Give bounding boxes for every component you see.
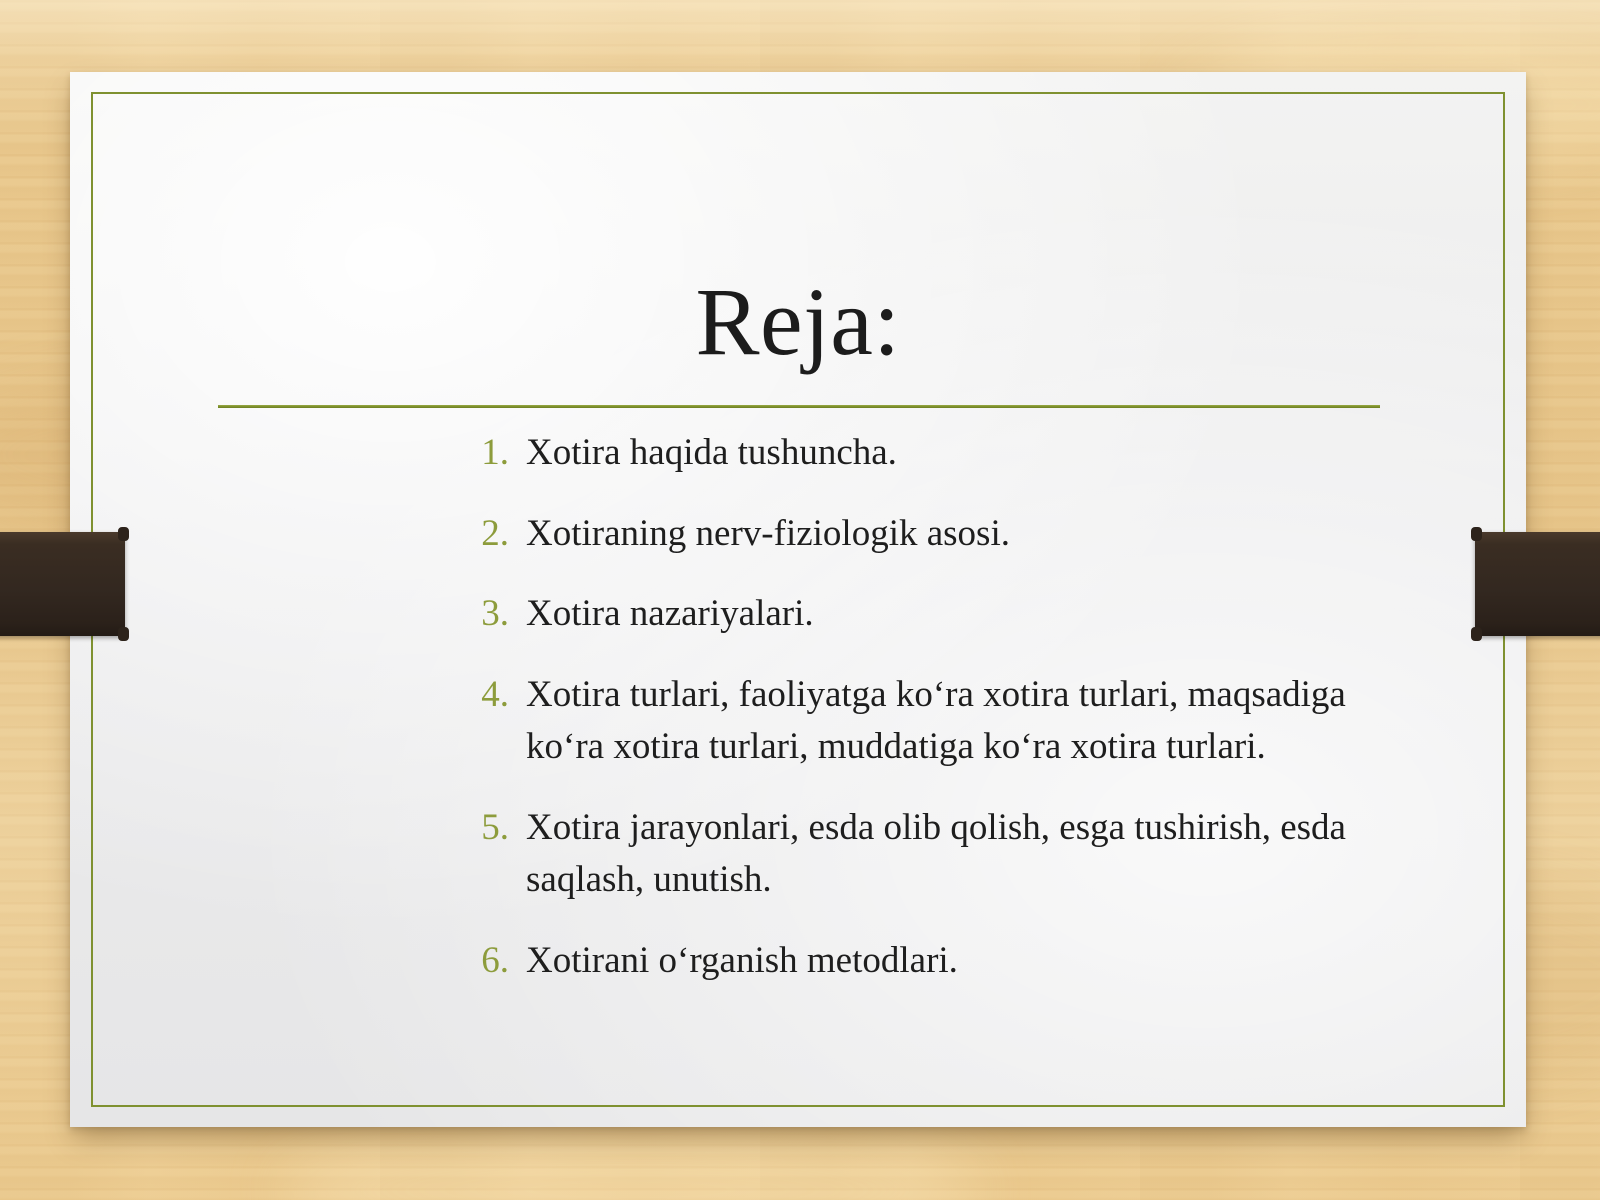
page-title: Reja: [70,272,1526,373]
list-item-number: 2. [470,508,526,561]
title-block: Reja: [70,272,1526,373]
list-item: 2. Xotiraning nerv-fiziologik asosi. [470,508,1380,561]
list-item: 3. Xotira nazariyalari. [470,588,1380,641]
list-item-text: Xotiraning nerv-fiziologik asosi. [526,508,1380,561]
list-item: 4. Xotira turlari, faoliyatga koʻra xoti… [470,669,1380,774]
list-item-text: Xotirani oʻrganish metodlari. [526,935,1380,988]
list-item: 5. Xotira jarayonlari, esda olib qolish,… [470,802,1380,907]
clip-nub-icon [1471,627,1482,641]
binder-clip-left [0,532,125,636]
slide-paper-card: Reja: 1. Xotira haqida tushuncha. 2. Xot… [70,72,1526,1127]
list-item-number: 5. [470,802,526,855]
list-item-text: Xotira jarayonlari, esda olib qolish, es… [526,802,1380,907]
list-item: 1. Xotira haqida tushuncha. [470,427,1380,480]
clip-nub-icon [1471,527,1482,541]
list-item-text: Xotira turlari, faoliyatga koʻra xotira … [526,669,1380,774]
list-item-number: 6. [470,935,526,988]
list-item: 6. Xotirani oʻrganish metodlari. [470,935,1380,988]
list-item-number: 1. [470,427,526,480]
list-item-text: Xotira nazariyalari. [526,588,1380,641]
title-divider-rule [218,405,1380,408]
list-item-text: Xotira haqida tushuncha. [526,427,1380,480]
list-item-number: 4. [470,669,526,722]
list-item-number: 3. [470,588,526,641]
plan-list: 1. Xotira haqida tushuncha. 2. Xotiranin… [470,427,1380,987]
wood-grain-blob [280,1130,980,1200]
clip-nub-icon [118,627,129,641]
binder-clip-right [1475,532,1600,636]
clip-nub-icon [118,527,129,541]
slide-canvas: Reja: 1. Xotira haqida tushuncha. 2. Xot… [0,0,1600,1200]
